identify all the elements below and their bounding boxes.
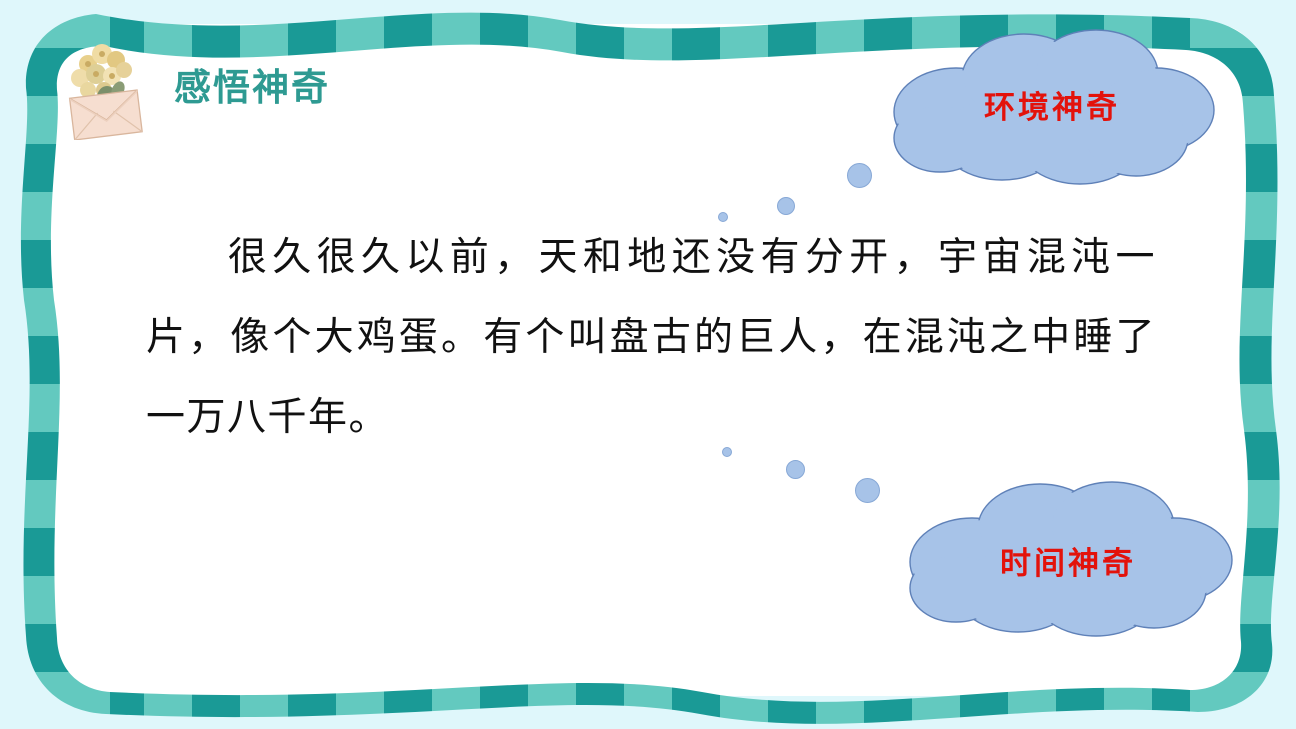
paragraph-text: 很久很久以前，天和地还没有分开，宇宙混沌一片，像个大鸡蛋。有个叫盘古的巨人，在混… xyxy=(146,235,1156,440)
trail-dot xyxy=(722,447,732,457)
trail-dot xyxy=(847,163,872,188)
cloud-environment-label: 环境神奇 xyxy=(884,82,1220,127)
slide-canvas: 感悟神奇 很久很久以前，天和地还没有分开，宇宙混沌一片，像个大鸡蛋。有个叫盘古的… xyxy=(0,0,1296,729)
envelope-with-flowers-icon xyxy=(58,34,154,140)
trail-dot xyxy=(777,197,795,215)
trail-dot xyxy=(855,478,880,503)
page-title: 感悟神奇 xyxy=(174,69,330,106)
trail-dot xyxy=(786,460,805,479)
trail-dot xyxy=(718,212,728,222)
cloud-time-label: 时间神奇 xyxy=(900,538,1236,583)
cloud-environment[interactable]: 环境神奇 xyxy=(884,26,1220,186)
slide-header: 感悟神奇 xyxy=(58,52,330,122)
cloud-time[interactable]: 时间神奇 xyxy=(900,482,1236,642)
lesson-paragraph: 很久很久以前，天和地还没有分开，宇宙混沌一片，像个大鸡蛋。有个叫盘古的巨人，在混… xyxy=(146,218,1156,458)
